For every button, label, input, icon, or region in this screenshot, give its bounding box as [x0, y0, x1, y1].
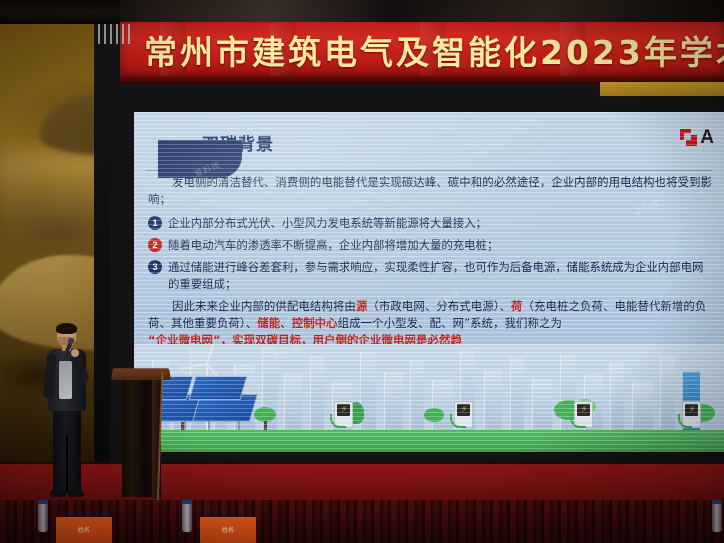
list-item: 1 企业内部分布式光伏、小型风力发电系统等新能源将大量接入； — [148, 215, 714, 232]
brand-logo: A — [680, 128, 714, 147]
list-item: 3 通过储能进行峰谷差套利，参与需求响应，实现柔性扩容，也可作为后备电源，储能系… — [148, 259, 714, 293]
page-title: 双碳背景 — [202, 130, 274, 155]
list-bullet-2: 2 — [148, 238, 162, 252]
wooden-podium — [112, 368, 170, 500]
list-item-text: 通过储能进行峰谷差套利，参与需求响应，实现柔性扩容，也可作为后备电源，储能系统成… — [168, 259, 714, 293]
list-item: 2 随着电动汽车的渗透率不断提高，企业内部将增加大量的充电桩； — [148, 237, 714, 254]
list-bullet-3: 3 — [148, 260, 162, 274]
presentation-slide: 双碳背景 A 发电侧的清洁替代、消费侧的电能替代是实现碳达峰、碳中和的必然途径，… — [134, 112, 724, 452]
water-bottle — [38, 502, 48, 532]
name-card: 姓名 — [200, 517, 256, 543]
intro-paragraph: 发电侧的清洁替代、消费侧的电能替代是实现碳达峰、碳中和的必然途径，企业内部的用电… — [148, 174, 714, 208]
keyword-storage: 储能 — [257, 316, 280, 330]
slide-body: 发电侧的清洁替代、消费侧的电能替代是实现碳达峰、碳中和的必然途径，企业内部的用电… — [148, 174, 714, 349]
conclusion-part: 组成一个小型发、配、网”系统，我们称之为 — [338, 316, 562, 330]
list-item-text: 企业内部分布式光伏、小型风力发电系统等新能源将大量接入； — [168, 215, 714, 232]
list-item-text: 随着电动汽车的渗透率不断提高，企业内部将增加大量的充电桩； — [168, 237, 714, 254]
name-card-text: 姓名 — [200, 525, 256, 534]
slide-illustration: ⚡ ⚡ — [134, 344, 724, 452]
conclusion-part: 、 — [280, 316, 292, 330]
water-bottle — [182, 502, 192, 532]
keyword-control-center: 控制中心 — [292, 316, 338, 330]
water-bottle — [712, 502, 722, 532]
event-banner: 常州市建筑电气及智能化2023年学术年 — [120, 22, 724, 80]
logo-mark-icon — [680, 129, 697, 146]
presenter-hand — [71, 349, 79, 357]
conference-photo-scene: 常州市建筑电气及智能化2023年学术年 双碳背景 A 发电侧的清洁替代、消费侧的… — [0, 0, 724, 543]
keyword-source: 源 — [356, 299, 368, 313]
keyword-load: 荷 — [511, 299, 523, 313]
presenter — [44, 325, 90, 505]
conclusion-part: 因此未来企业内部的供配电结构将由 — [172, 299, 356, 313]
logo-letter: A — [700, 128, 714, 147]
conclusion-paragraph: 因此未来企业内部的供配电结构将由源（市政电网、分布式电源）、荷（充电桩之负荷、电… — [148, 298, 714, 332]
banner-title: 常州市建筑电气及智能化2023年学术年 — [144, 26, 724, 74]
ceiling-marble-trim — [120, 0, 724, 24]
numbered-list: 1 企业内部分布式光伏、小型风力发电系统等新能源将大量接入； 2 随着电动汽车的… — [148, 215, 714, 293]
grass-ground — [134, 430, 724, 452]
title-divider — [146, 170, 712, 171]
name-card-text: 姓名 — [56, 525, 112, 534]
banner-bracket — [98, 24, 130, 44]
name-card: 姓名 — [56, 517, 112, 543]
list-bullet-1: 1 — [148, 216, 162, 230]
